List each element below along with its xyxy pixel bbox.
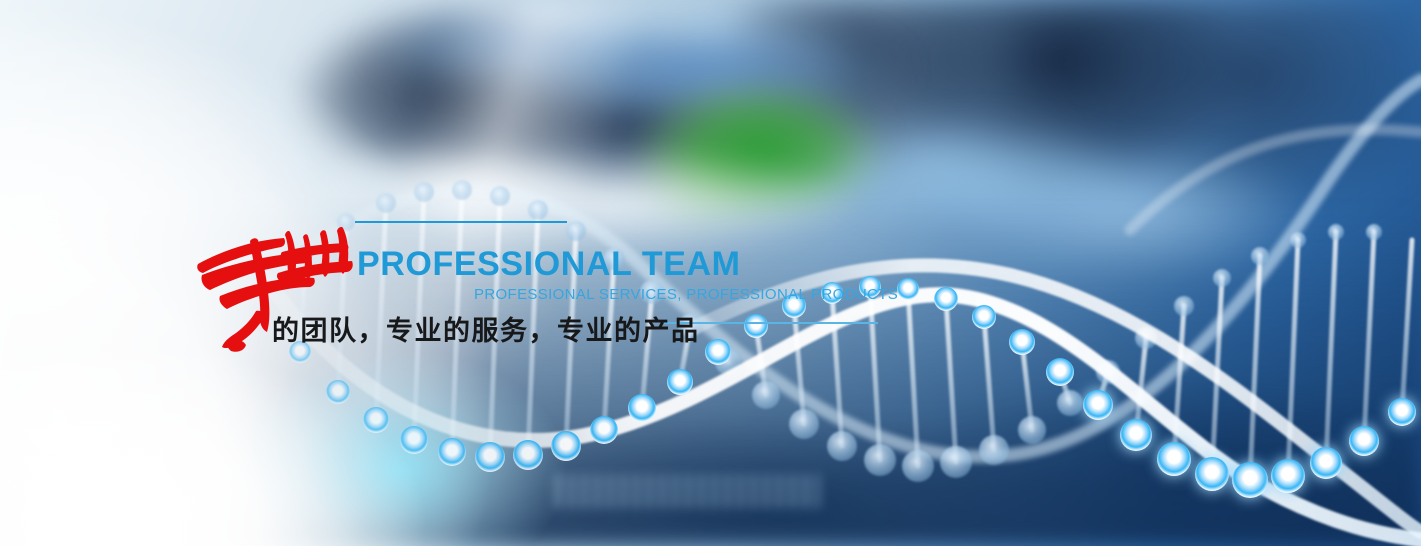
page-title: PROFESSIONAL TEAM	[357, 245, 741, 284]
subtitle-chinese: 的团队，专业的服务，专业的产品	[272, 309, 700, 348]
decorative-rule-top	[355, 221, 567, 223]
hero-banner: PROFESSIONAL TEAM PROFESSIONAL SERVICES,…	[0, 0, 1421, 546]
subtitle-english: PROFESSIONAL SERVICES, PROFESSIONAL PROD…	[474, 286, 898, 303]
banner-copy-block: PROFESSIONAL TEAM PROFESSIONAL SERVICES,…	[0, 0, 1421, 546]
